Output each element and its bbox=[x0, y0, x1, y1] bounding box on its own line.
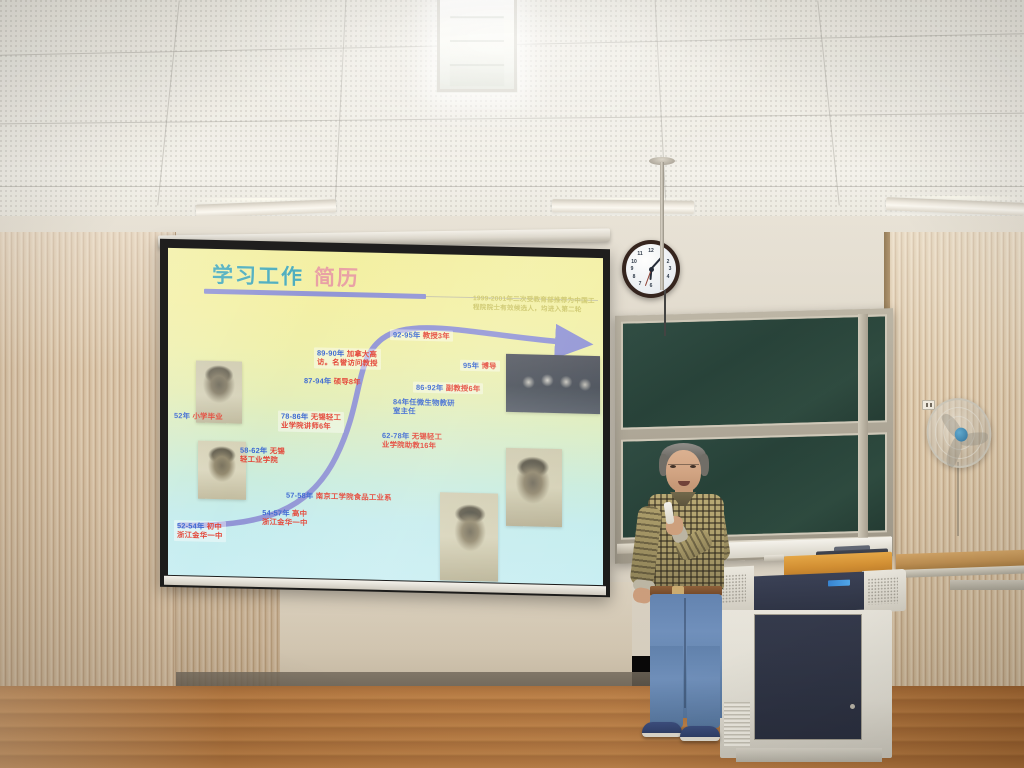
lectern-remote[interactable] bbox=[764, 555, 784, 562]
label-78-86: 78-86年 无锡轻工业学院讲师6年 bbox=[278, 410, 344, 432]
lectern-brand-logo bbox=[828, 580, 850, 587]
label-92-95: 92-95年 教授3年 bbox=[390, 329, 453, 342]
wall-clock: 12 1 2 3 4 5 6 7 8 9 10 11 bbox=[622, 240, 680, 298]
lectern-base bbox=[736, 748, 882, 762]
projector-screen: 学习工作简历 1999-2001年二次受教育部推荐为中国工程院院士有效候选人，均… bbox=[160, 239, 610, 598]
ceiling bbox=[0, 0, 1024, 232]
ceiling-pole bbox=[660, 162, 664, 290]
presenter bbox=[628, 438, 746, 740]
label-54-57: 54-57年 高中浙江金华一中 bbox=[262, 508, 308, 528]
clock-face: 12 1 2 3 4 5 6 7 8 9 10 11 bbox=[626, 244, 676, 294]
presenter-leg-right bbox=[687, 646, 720, 728]
side-table-lower bbox=[950, 580, 1024, 590]
blackboard-panel-top bbox=[621, 314, 887, 429]
wall-outlet[interactable] bbox=[922, 400, 935, 410]
photo-young-man-b bbox=[506, 448, 562, 527]
label-62-78: 62-78年 无锡轻工业学院助教16年 bbox=[382, 431, 442, 451]
label-95: 95年 博导 bbox=[460, 360, 500, 372]
blackboard-side-rail bbox=[858, 314, 868, 556]
label-52-primary: 52年 小学毕业 bbox=[174, 411, 223, 422]
label-58-62: 58-62年 无锡轻工业学院 bbox=[240, 446, 285, 466]
photo-youth-portrait bbox=[198, 441, 246, 500]
lectern-speaker-right bbox=[862, 569, 906, 613]
label-84: 84年任微生物教研室主任 bbox=[393, 397, 455, 417]
photo-group-dark bbox=[506, 354, 600, 414]
hanging-cable bbox=[664, 290, 666, 336]
label-87-94: 87-94年 硕导8年 bbox=[304, 376, 361, 387]
presenter-hair-right bbox=[700, 454, 709, 476]
label-89-90: 89-90年 加拿大高访。名誉访问教授 bbox=[314, 347, 381, 370]
ceiling-light-2 bbox=[552, 199, 694, 213]
projected-slide: 学习工作简历 1999-2001年二次受教育部推荐为中国工程院院士有效候选人，均… bbox=[168, 248, 603, 585]
lecture-hall-photo: 12 1 2 3 4 5 6 7 8 9 10 11 bbox=[0, 0, 1024, 768]
lectern-lock[interactable] bbox=[850, 704, 855, 709]
skylight-frame bbox=[437, 0, 517, 92]
label-86-92: 86-92年 副教授6年 bbox=[413, 382, 483, 395]
presenter-leg-left bbox=[650, 646, 683, 728]
presenter-shoe-right bbox=[680, 726, 720, 741]
photo-young-man-a bbox=[440, 492, 498, 581]
presenter-shoe-left bbox=[642, 722, 682, 737]
wall-panel-left bbox=[0, 232, 176, 694]
lectern-front-upper bbox=[754, 572, 864, 615]
label-52-54: 52-54年 初中浙江金华一中 bbox=[174, 520, 226, 542]
lectern-cabinet-door[interactable] bbox=[754, 614, 862, 740]
fan-support-arm bbox=[957, 462, 959, 536]
